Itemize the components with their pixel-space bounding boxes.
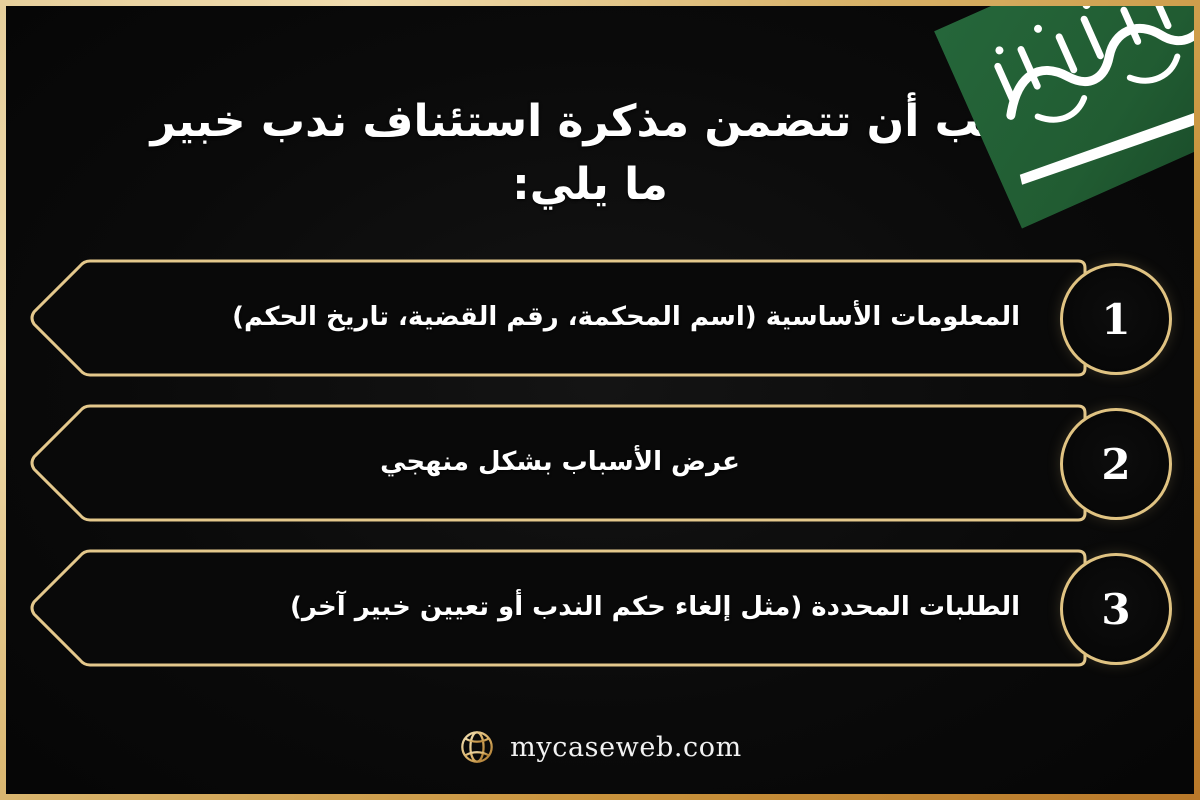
list-item[interactable]: المعلومات الأساسية (اسم المحكمة، رقم الق… (0, 258, 1200, 378)
step-number-badge: 1 (1060, 263, 1172, 375)
list-item[interactable]: عرض الأسباب بشكل منهجي 2 (0, 403, 1200, 523)
list-item-label: المعلومات الأساسية (اسم المحكمة، رقم الق… (80, 258, 1040, 378)
list-item-label: الطلبات المحددة (مثل إلغاء حكم الندب أو … (80, 548, 1040, 668)
step-number-badge: 3 (1060, 553, 1172, 665)
step-number-badge: 2 (1060, 408, 1172, 520)
steps-list: المعلومات الأساسية (اسم المحكمة، رقم الق… (0, 258, 1200, 668)
infographic-canvas: يجب أن تتضمن مذكرة استئناف ندب خبير ما ي… (0, 0, 1200, 800)
site-url-label: mycaseweb.com (510, 732, 742, 763)
list-item[interactable]: الطلبات المحددة (مثل إلغاء حكم الندب أو … (0, 548, 1200, 668)
globe-icon (458, 728, 496, 766)
footer: mycaseweb.com (0, 728, 1200, 766)
list-item-label: عرض الأسباب بشكل منهجي (80, 403, 1040, 523)
